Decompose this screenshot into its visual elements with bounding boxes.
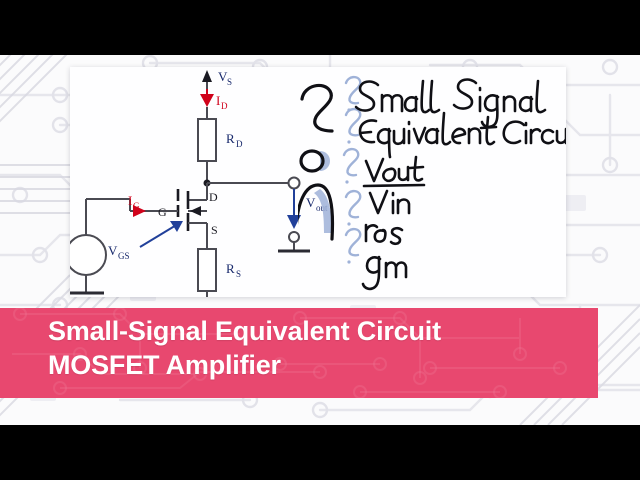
drain-resistor-body bbox=[198, 119, 216, 161]
label-rs-sub: S bbox=[236, 269, 241, 279]
letterbox-top bbox=[0, 0, 640, 55]
handwritten-notes: .ink{fill:none;stroke:#101015;stroke-wid… bbox=[298, 73, 566, 293]
handwriting-equivalent-circuit bbox=[360, 113, 566, 157]
bullet-marker-5 bbox=[346, 229, 360, 264]
big-question-mark-1 bbox=[302, 85, 332, 131]
handwriting-small-signal bbox=[356, 80, 545, 127]
label-vs-sub: S bbox=[227, 77, 232, 87]
label-node-d: D bbox=[209, 190, 218, 204]
slide-body: .w{stroke:#4a4a52;stroke-width:2;fill:no… bbox=[0, 55, 640, 425]
mosfet-symbol bbox=[130, 183, 207, 245]
banner-title-line1: Small-Signal Equivalent Circuit bbox=[48, 314, 592, 348]
label-id-sub: D bbox=[221, 101, 228, 111]
label-rd-sub: D bbox=[236, 139, 243, 149]
hand-arch-mark bbox=[298, 185, 332, 239]
title-banner: Small-Signal Equivalent Circuit MOSFET A… bbox=[0, 308, 598, 398]
handwriting-rds bbox=[366, 225, 402, 244]
bullet-marker-3 bbox=[344, 149, 358, 184]
label-vgs-sub: GS bbox=[118, 251, 130, 261]
label-ig-sub: G bbox=[133, 201, 140, 211]
content-card: .w{stroke:#4a4a52;stroke-width:2;fill:no… bbox=[70, 67, 566, 297]
bullet-marker-1 bbox=[346, 77, 360, 112]
gate-source-voltage-arrow bbox=[140, 221, 183, 247]
label-node-g: G bbox=[158, 205, 167, 219]
slide-stage: .w{stroke:#4a4a52;stroke-width:2;fill:no… bbox=[0, 0, 640, 480]
label-ig: I bbox=[128, 193, 132, 208]
label-rs: R bbox=[226, 261, 235, 276]
letterbox-bottom bbox=[0, 425, 640, 480]
handwriting-gm bbox=[363, 257, 406, 289]
input-voltage-source bbox=[70, 199, 106, 293]
hand-circle-mark bbox=[301, 151, 330, 171]
label-node-s: S bbox=[211, 223, 218, 237]
banner-title-line2: MOSFET Amplifier bbox=[48, 348, 592, 382]
label-vgs: V bbox=[108, 243, 118, 258]
source-resistor-body bbox=[198, 249, 216, 291]
banner-left-edge bbox=[0, 308, 12, 398]
bullet-marker-4 bbox=[346, 191, 360, 226]
label-id: I bbox=[216, 93, 220, 108]
banner-title-text: Small-Signal Equivalent Circuit MOSFET A… bbox=[48, 314, 592, 382]
label-rd: R bbox=[226, 131, 235, 146]
bullet-marker-2 bbox=[346, 109, 360, 144]
handwriting-vout-over-vin bbox=[364, 157, 424, 213]
drain-current-arrow bbox=[200, 89, 214, 107]
